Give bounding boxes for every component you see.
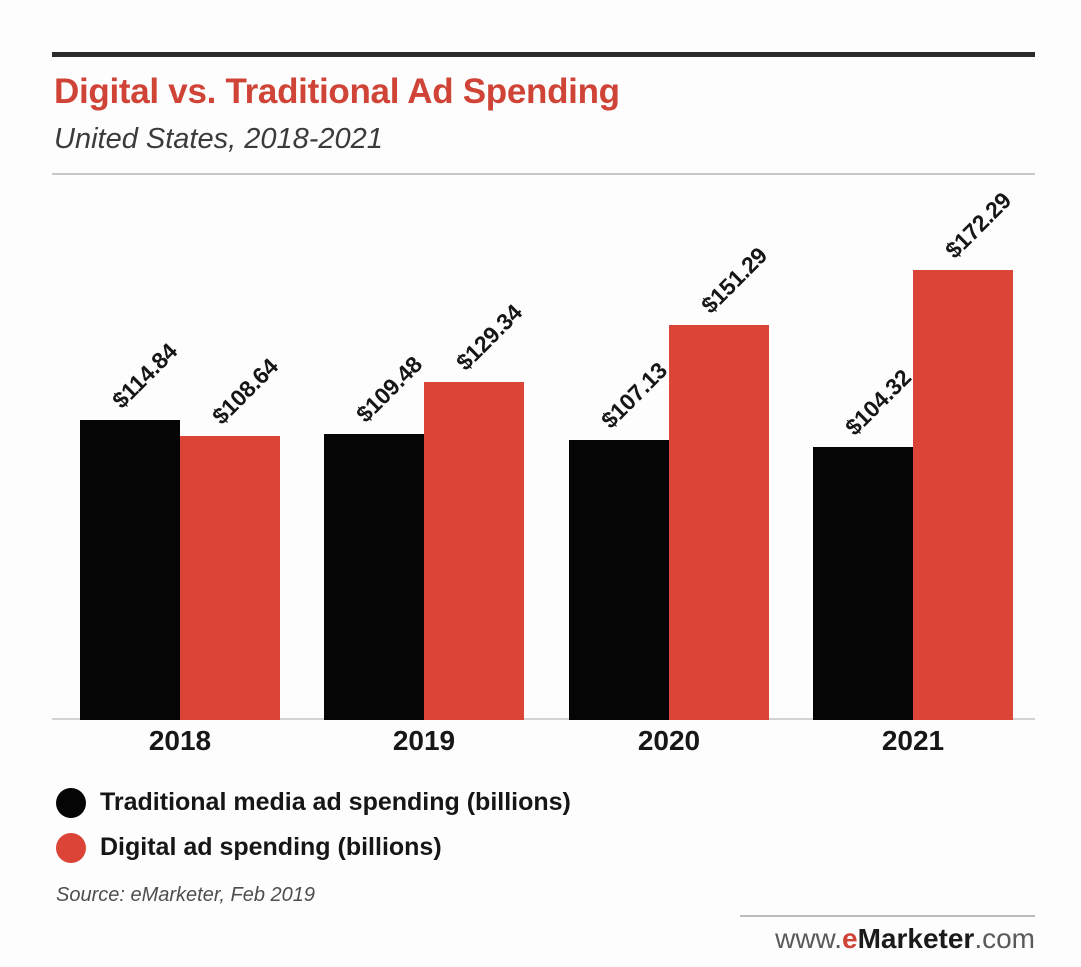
brand-watermark: www.eMarketer.com <box>775 923 1035 955</box>
bar-value-label: $151.29 <box>696 242 773 319</box>
legend-swatch-circle-icon <box>56 788 86 818</box>
bar-value-label: $109.48 <box>351 351 428 428</box>
bar-value-label: $114.84 <box>107 338 183 414</box>
footer-rule <box>740 915 1035 917</box>
bar-group-2021: $104.32 $172.29 <box>813 195 1013 720</box>
bar-value-label: $108.64 <box>207 353 284 430</box>
legend-item-traditional[interactable]: Traditional media ad spending (billions) <box>56 780 756 825</box>
bar-group-2019: $109.48 $129.34 <box>324 195 524 720</box>
page-subtitle: United States, 2018-2021 <box>54 123 954 156</box>
brand-e: e <box>842 923 858 954</box>
bar-digital-2018[interactable]: $108.64 <box>180 436 280 720</box>
header-top-rule <box>52 52 1035 57</box>
bar-value-label: $104.32 <box>840 364 917 441</box>
bar-traditional-2020[interactable]: $107.13 <box>569 440 669 720</box>
bar-value-label: $107.13 <box>596 357 673 434</box>
bar-traditional-2021[interactable]: $104.32 <box>813 447 913 720</box>
header-bottom-rule <box>52 173 1035 175</box>
legend-label-traditional: Traditional media ad spending (billions) <box>100 788 571 817</box>
bar-value-label: $129.34 <box>451 299 528 376</box>
bar-value-label: $172.29 <box>940 187 1017 264</box>
chart-legend: Traditional media ad spending (billions)… <box>56 780 756 870</box>
source-note: Source: eMarketer, Feb 2019 <box>56 884 315 907</box>
bar-traditional-2018[interactable]: $114.84 <box>80 420 180 720</box>
bar-group-2020: $107.13 $151.29 <box>569 195 769 720</box>
x-tick-2018: 2018 <box>80 725 280 757</box>
bar-digital-2019[interactable]: $129.34 <box>424 382 524 720</box>
page-title: Digital vs. Traditional Ad Spending <box>54 72 954 112</box>
bar-digital-2021[interactable]: $172.29 <box>913 270 1013 720</box>
x-tick-2019: 2019 <box>324 725 524 757</box>
brand-marketer: Marketer <box>858 923 975 954</box>
bar-traditional-2019[interactable]: $109.48 <box>324 434 424 720</box>
x-tick-2020: 2020 <box>569 725 769 757</box>
bar-chart-plot: $114.84 $108.64 $109.48 $129.34 $107.13 … <box>52 190 1035 720</box>
bar-digital-2020[interactable]: $151.29 <box>669 325 769 720</box>
legend-label-digital: Digital ad spending (billions) <box>100 833 442 862</box>
x-axis-tick-labels: 2018 2019 2020 2021 <box>52 725 1035 765</box>
legend-swatch-circle-icon <box>56 833 86 863</box>
brand-com: .com <box>974 923 1035 954</box>
legend-item-digital[interactable]: Digital ad spending (billions) <box>56 825 756 870</box>
brand-www: www. <box>775 923 842 954</box>
x-tick-2021: 2021 <box>813 725 1013 757</box>
bar-group-2018: $114.84 $108.64 <box>80 195 280 720</box>
chart-canvas: Digital vs. Traditional Ad Spending Unit… <box>0 0 1081 967</box>
